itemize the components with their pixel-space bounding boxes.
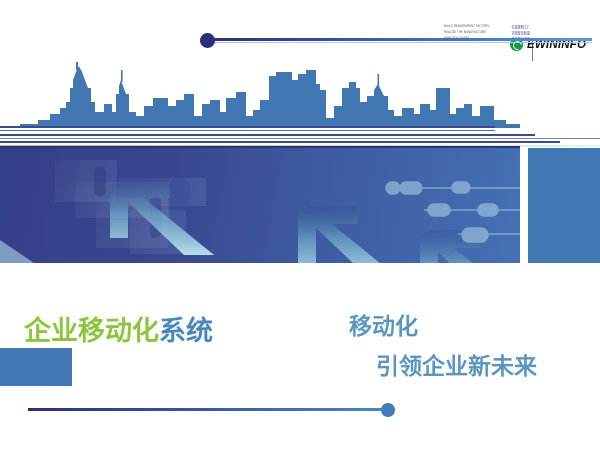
logo-tagline-row: BUILD TRANSPARENT FACTORY 打造透明工厂	[444, 24, 530, 29]
top-accent-line-thin	[207, 42, 592, 43]
title-primary-green: 企业移动化	[24, 316, 159, 347]
subtitle-line-2: 引领企业新未来	[376, 356, 537, 379]
bottom-accent-dot	[381, 403, 395, 417]
logo-tagline-en: BUILD TRANSPARENT FACTORY	[444, 24, 489, 28]
divider-rule-1	[0, 126, 495, 128]
logo-tagline-en: REALIZE THE MANUFACTURE	[444, 30, 486, 34]
divider-rule-2	[0, 130, 495, 131]
bottom-accent-line	[28, 408, 388, 411]
divider-rule-4	[0, 138, 600, 139]
top-accent-dot	[200, 33, 215, 48]
subtitle-line-1: 移动化	[349, 316, 418, 339]
subtitle-text-1: 移动化	[349, 314, 418, 340]
title-accent-box	[0, 348, 72, 386]
divider-rule-5	[0, 141, 560, 143]
slide-canvas: BUILD TRANSPARENT FACTORY 打造透明工厂 REALIZE…	[0, 0, 600, 451]
city-skyline-graphic	[20, 58, 520, 128]
divider-rule-3	[0, 134, 535, 136]
top-accent-line	[207, 38, 592, 41]
logo-tagline-cn: 实现智慧制造	[511, 29, 530, 35]
logo-tagline-cn: 打造透明工厂	[511, 23, 530, 29]
subtitle-text-2: 引领企业新未来	[376, 354, 537, 380]
page-title: 企业移动化系统	[24, 318, 213, 345]
banner-right-block	[528, 148, 600, 263]
corner-wedge	[0, 240, 34, 263]
skyline-svg	[20, 58, 520, 128]
banner-svg	[0, 148, 520, 263]
hero-banner-graphic	[0, 148, 520, 263]
title-primary-blue: 系统	[159, 316, 213, 347]
logo-tagline-row: REALIZE THE MANUFACTURE 实现智慧制造	[444, 30, 530, 35]
